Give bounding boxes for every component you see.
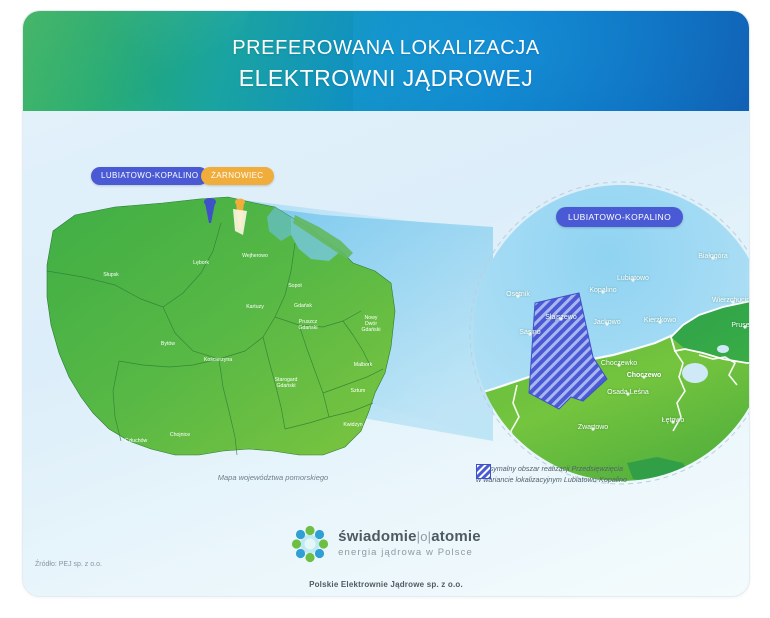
- source-note: Źródło: PEJ sp. z o.o.: [35, 561, 102, 568]
- district-label: Sopot: [288, 283, 302, 289]
- inset-place-label: Osetnik: [506, 291, 530, 298]
- inset-place-label: Kopalino: [589, 287, 616, 294]
- district-label: Człuchów: [125, 438, 148, 444]
- inset-place-label: Osada Leśna: [607, 389, 649, 396]
- district-label: Sztum: [351, 388, 366, 394]
- inset-place-label: Słajszewo: [545, 314, 577, 321]
- inset-place-label: Choczewo: [627, 372, 662, 379]
- district-label: PruszczGdański: [298, 319, 317, 331]
- infographic-card: PREFEROWANA LOKALIZACJA ELEKTROWNI JĄDRO…: [22, 10, 750, 597]
- inset-place-label: Choczewko: [601, 360, 637, 367]
- district-label: Lębork: [193, 260, 209, 266]
- district-label: Kartuzy: [246, 304, 264, 310]
- brand-separator: |o|: [417, 529, 432, 544]
- district-label: Kwidzyn: [343, 422, 362, 428]
- inset-place-label: Jackowo: [593, 319, 620, 326]
- inset-place-label: Łętowo: [662, 417, 685, 424]
- title-line-2: ELEKTROWNI JĄDROWEJ: [23, 63, 749, 93]
- district-label: Malbork: [354, 362, 373, 368]
- inset-place-label: Białogóra: [698, 253, 728, 260]
- inset-place-label: Kierzkowo: [644, 317, 676, 324]
- legend-swatch-hatched: [476, 464, 491, 479]
- district-label: Kościerzyna: [204, 357, 232, 363]
- page-title: PREFEROWANA LOKALIZACJA ELEKTROWNI JĄDRO…: [23, 35, 749, 93]
- legend: Maksymalny obszar realizacji Przedsięwzi…: [476, 463, 706, 485]
- footer: świadomie|o|atomie energia jądrowa w Pol…: [23, 511, 749, 596]
- brand-block: świadomie|o|atomie energia jądrowa w Pol…: [291, 525, 481, 563]
- brand-text: świadomie|o|atomie energia jądrowa w Pol…: [338, 529, 481, 560]
- zoom-inset-circle: [453, 181, 749, 501]
- inset-label-lubiatowo-kopalino[interactable]: LUBIATOWO-KOPALINO: [556, 207, 683, 227]
- header-banner: PREFEROWANA LOKALIZACJA ELEKTROWNI JĄDRO…: [23, 11, 749, 111]
- inset-place-label: Zwartowo: [578, 424, 608, 431]
- legend-text-line-2: w wariancie lokalizacyjnym Lubiatowo-Kop…: [476, 474, 627, 485]
- brand-word-1: świadomie: [338, 528, 417, 545]
- atom-logo-icon: [291, 525, 329, 563]
- district-label: Słupsk: [103, 272, 119, 278]
- brand-word-2: atomie: [431, 528, 481, 545]
- district-label: Wejherowo: [242, 253, 268, 259]
- map-caption: Mapa województwa pomorskiego: [163, 473, 383, 482]
- inset-place-label: Lubiatowo: [617, 275, 649, 282]
- brand-tagline: energia jądrowa w Polsce: [338, 546, 481, 560]
- brand-wordmark: świadomie|o|atomie: [338, 529, 481, 545]
- district-label: Gdańsk: [294, 303, 312, 309]
- district-label: StarogardGdański: [275, 377, 298, 389]
- title-line-1: PREFEROWANA LOKALIZACJA: [23, 35, 749, 61]
- map-stage: SłupskLęborkWejherowoSopotGdańskKartuzyB…: [23, 111, 749, 511]
- legend-text: Maksymalny obszar realizacji Przedsięwzi…: [476, 463, 627, 485]
- infographic-body: SłupskLęborkWejherowoSopotGdańskKartuzyB…: [23, 111, 749, 596]
- marker-label-zarnowiec[interactable]: ŻARNOWIEC: [201, 167, 274, 185]
- district-label: Bytów: [161, 341, 175, 347]
- inset-place-label: Sasino: [519, 329, 540, 336]
- inset-place-label: Prusewo: [731, 322, 750, 329]
- marker-label-lubiatowo-kopalino[interactable]: LUBIATOWO-KOPALINO: [91, 167, 208, 185]
- legend-text-line-1: Maksymalny obszar realizacji Przedsięwzi…: [476, 463, 627, 474]
- district-label: Chojnice: [170, 432, 190, 438]
- inset-place-label: Wierzchucino: [712, 297, 750, 304]
- company-name: Polskie Elektrownie Jądrowe sp. z o.o.: [23, 580, 749, 589]
